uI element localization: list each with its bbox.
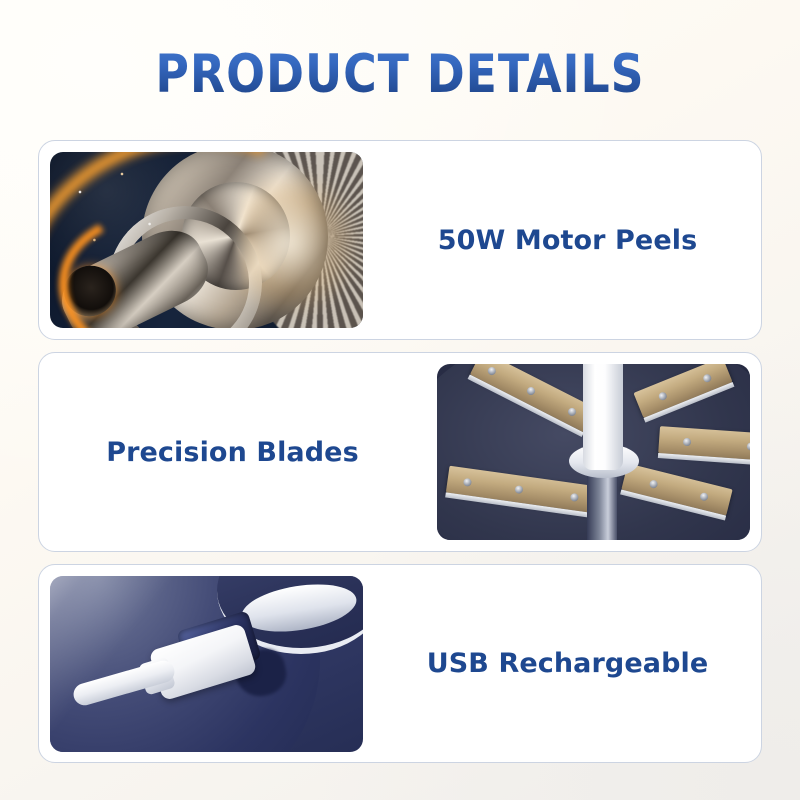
blade-strip	[658, 426, 750, 461]
feature-label-usb: USB Rechargeable	[374, 648, 761, 679]
blade-screw	[747, 442, 750, 451]
feature-label-motor: 50W Motor Peels	[374, 225, 761, 256]
blade-screw	[657, 391, 667, 401]
page-title: PRODUCT DETAILS	[16, 44, 784, 106]
blade-screw	[683, 437, 692, 446]
blade-screw	[699, 491, 709, 501]
feature-label-blades: Precision Blades	[39, 437, 426, 468]
product-details-infographic: PRODUCT DETAILS 50W Motor Peels Precisio…	[0, 0, 800, 800]
blade-screw	[702, 373, 712, 383]
motor-spark-particles	[56, 162, 176, 262]
blade-shaft-lower	[587, 468, 617, 540]
blade-screw	[515, 485, 524, 494]
precision-blades-photo	[437, 364, 750, 540]
blade-screw	[526, 385, 537, 396]
blade-screw	[487, 365, 498, 376]
feature-card-motor: 50W Motor Peels	[38, 140, 762, 340]
blade-center-shaft	[583, 364, 623, 470]
motor-closeup-photo	[50, 152, 363, 328]
feature-card-usb: USB Rechargeable	[38, 564, 762, 763]
blade-screw	[570, 492, 579, 501]
blade-screw	[567, 406, 578, 417]
blade-screw	[463, 477, 472, 486]
feature-card-blades: Precision Blades	[38, 352, 762, 552]
usb-charging-port-photo	[50, 576, 363, 752]
motor-lens-flare	[241, 168, 361, 318]
blade-screw	[649, 479, 659, 489]
